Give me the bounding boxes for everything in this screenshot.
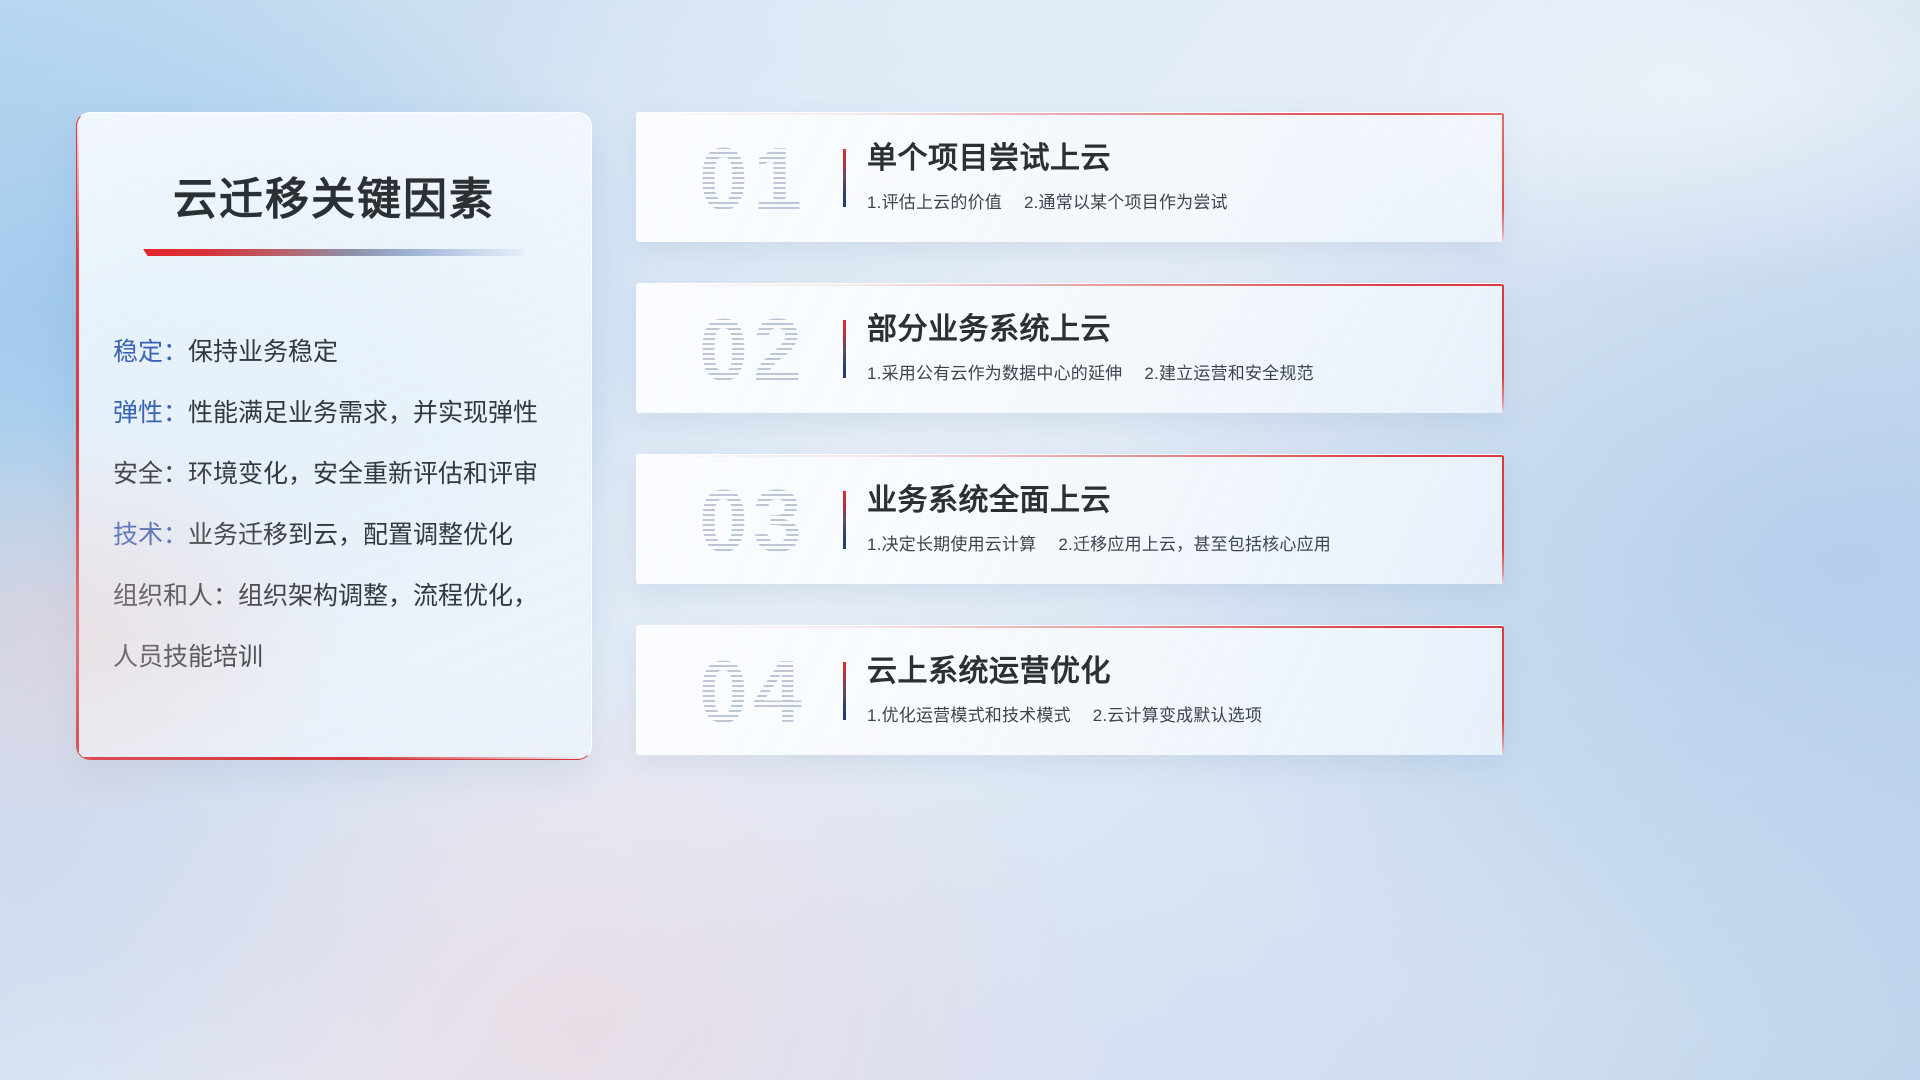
stage-point-1: 1.采用公有云作为数据中心的延伸 [867, 364, 1122, 383]
stage-point-2: 2.云计算变成默认选项 [1093, 706, 1262, 725]
stage-number: 01 [658, 127, 848, 231]
stage-card[interactable]: 03 业务系统全面上云 1.决定长期使用云计算2.迁移应用上云，甚至包括核心应用 [636, 454, 1504, 584]
factor-text: 保持业务稳定 [188, 338, 338, 366]
factor-text: 性能满足业务需求，并实现弹性 [188, 399, 538, 427]
slide-root: 云迁移关键因素 稳定：保持业务稳定 弹性：性能满足业务需求，并实现弹性 安全：环… [0, 0, 1920, 1080]
title-underline-rule [143, 249, 525, 256]
key-factors-panel: 云迁移关键因素 稳定：保持业务稳定 弹性：性能满足业务需求，并实现弹性 安全：环… [76, 112, 592, 760]
list-item: 稳定：保持业务稳定 [113, 322, 561, 383]
stage-divider-bar [843, 491, 846, 549]
stage-point-1: 1.评估上云的价值 [867, 193, 1002, 212]
stage-point-2: 2.通常以某个项目作为尝试 [1024, 193, 1228, 212]
stage-card[interactable]: 02 部分业务系统上云 1.采用公有云作为数据中心的延伸2.建立运营和安全规范 [636, 283, 1504, 413]
stage-body: 部分业务系统上云 1.采用公有云作为数据中心的延伸2.建立运营和安全规范 [867, 308, 1480, 386]
stage-point-2: 2.迁移应用上云，甚至包括核心应用 [1058, 535, 1331, 554]
migration-stage-cards: 01 单个项目尝试上云 1.评估上云的价值2.通常以某个项目作为尝试 02 部分… [636, 112, 1504, 755]
stage-number: 02 [658, 298, 848, 402]
stage-points: 1.决定长期使用云计算2.迁移应用上云，甚至包括核心应用 [867, 532, 1480, 557]
list-item: 安全：环境变化，安全重新评估和评审 [113, 444, 561, 505]
stage-number: 03 [658, 469, 848, 573]
list-item: 组织和人：组织架构调整，流程优化，人员技能培训 [113, 566, 561, 688]
stage-card[interactable]: 01 单个项目尝试上云 1.评估上云的价值2.通常以某个项目作为尝试 [636, 112, 1504, 242]
stage-divider-bar [843, 662, 846, 720]
stage-body: 业务系统全面上云 1.决定长期使用云计算2.迁移应用上云，甚至包括核心应用 [867, 479, 1480, 557]
factor-text: 业务迁移到云，配置调整优化 [188, 521, 513, 549]
stage-point-2: 2.建立运营和安全规范 [1144, 364, 1313, 383]
stage-title: 单个项目尝试上云 [867, 137, 1480, 181]
stage-title: 云上系统运营优化 [867, 650, 1480, 694]
stage-card[interactable]: 04 云上系统运营优化 1.优化运营模式和技术模式2.云计算变成默认选项 [636, 625, 1504, 755]
stage-point-1: 1.决定长期使用云计算 [867, 535, 1036, 554]
stage-points: 1.评估上云的价值2.通常以某个项目作为尝试 [867, 190, 1480, 215]
stage-divider-bar [843, 149, 846, 207]
factor-label: 组织和人： [113, 582, 238, 610]
factor-text: 环境变化，安全重新评估和评审 [188, 460, 538, 488]
factor-label: 安全： [113, 460, 188, 488]
stage-divider-bar [843, 320, 846, 378]
stage-points: 1.采用公有云作为数据中心的延伸2.建立运营和安全规范 [867, 361, 1480, 386]
key-factors-list: 稳定：保持业务稳定 弹性：性能满足业务需求，并实现弹性 安全：环境变化，安全重新… [77, 322, 591, 688]
stage-number: 04 [658, 640, 848, 744]
factor-label: 稳定： [113, 338, 188, 366]
stage-point-1: 1.优化运营模式和技术模式 [867, 706, 1071, 725]
stage-title: 部分业务系统上云 [867, 308, 1480, 352]
stage-body: 单个项目尝试上云 1.评估上云的价值2.通常以某个项目作为尝试 [867, 137, 1480, 215]
factor-label: 弹性： [113, 399, 188, 427]
stage-title: 业务系统全面上云 [867, 479, 1480, 523]
factor-label: 技术： [113, 521, 188, 549]
stage-body: 云上系统运营优化 1.优化运营模式和技术模式2.云计算变成默认选项 [867, 650, 1480, 728]
stage-points: 1.优化运营模式和技术模式2.云计算变成默认选项 [867, 703, 1480, 728]
page-title: 云迁移关键因素 [77, 163, 591, 227]
list-item: 弹性：性能满足业务需求，并实现弹性 [113, 383, 561, 444]
list-item: 技术：业务迁移到云，配置调整优化 [113, 505, 561, 566]
